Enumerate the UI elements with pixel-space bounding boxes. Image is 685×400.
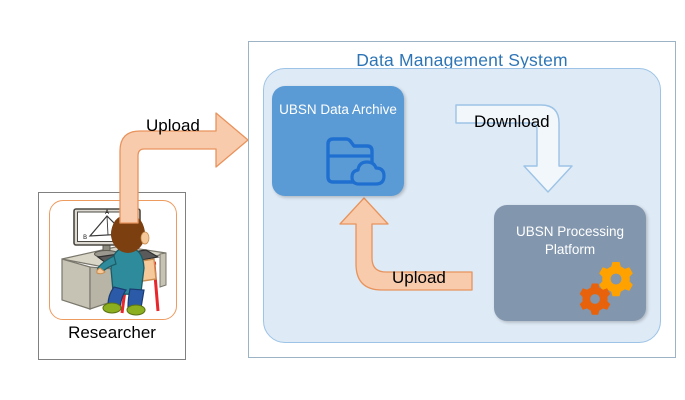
upload-external-arrow-label: Upload xyxy=(146,116,200,136)
diagram-canvas: A B C xyxy=(0,0,685,400)
download-arrow-label: Download xyxy=(474,112,550,132)
researcher-label: Researcher xyxy=(39,323,185,343)
node-ubsn-data-archive[interactable]: UBSN Data Archive xyxy=(272,86,404,196)
node-ubsn-processing-platform-label: UBSN ProcessingPlatform xyxy=(500,223,640,259)
node-ubsn-data-archive-label: UBSN Data Archive xyxy=(276,102,400,117)
upload-internal-arrow-label: Upload xyxy=(392,268,446,288)
svg-text:B: B xyxy=(83,234,87,241)
platform-label-line2: Platform xyxy=(545,242,595,257)
gears-icon xyxy=(578,259,640,317)
platform-label-line1: UBSN Processing xyxy=(516,224,624,239)
folder-cloud-icon xyxy=(324,134,390,188)
node-ubsn-processing-platform[interactable]: UBSN ProcessingPlatform xyxy=(494,205,646,321)
